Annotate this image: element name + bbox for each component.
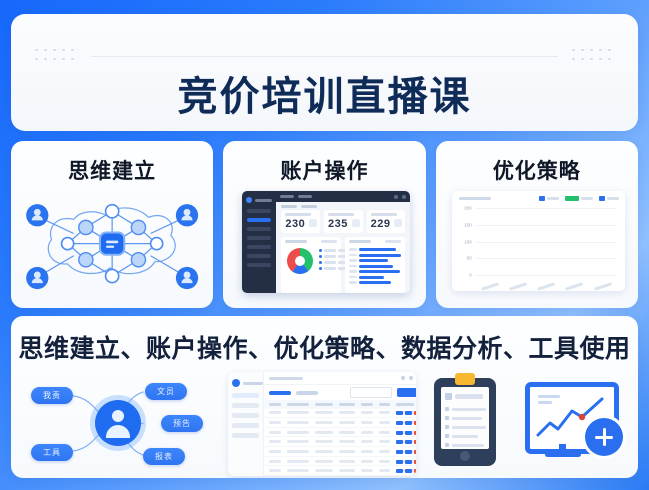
clipboard-tablet-icon <box>416 374 520 474</box>
dashboard-bell-icon <box>394 195 398 199</box>
dashboard-nav-item <box>247 209 271 213</box>
stat-card: 229 <box>367 210 406 233</box>
page-title: 竞价培训直播课 <box>11 64 638 122</box>
table-help-icon <box>401 376 405 380</box>
card-optimization-strategy[interactable]: 优化策略 200 150 100 50 0 <box>436 141 638 308</box>
poster-stage: 竞价培训直播课 思维建立 <box>0 0 649 490</box>
feature-cards: 思维建立 <box>11 141 638 308</box>
dashboard-main: 230 235 229 <box>276 191 410 293</box>
table-nav-item <box>232 413 259 418</box>
table-nav-item <box>232 403 259 408</box>
header-decoration <box>11 47 638 65</box>
table-primary-button[interactable] <box>397 388 416 397</box>
dashboard-nav-item-active <box>247 218 271 222</box>
legend-item <box>565 196 593 201</box>
legend-item <box>599 196 619 201</box>
table-tab-active[interactable] <box>269 391 291 395</box>
table-header-row <box>264 400 416 409</box>
table-row[interactable] <box>264 418 416 428</box>
chart-x-labels <box>476 285 617 288</box>
donut-chart <box>287 248 313 274</box>
dashboard-nav-item <box>247 263 271 267</box>
card-thinking[interactable]: 思维建立 <box>11 141 213 308</box>
y-tick: 100 <box>464 239 472 244</box>
card-title-optimization: 优化策略 <box>436 155 638 185</box>
table-row[interactable] <box>264 409 416 419</box>
stat-card: 235 <box>324 210 363 233</box>
donut-panel <box>281 237 341 293</box>
card-account-operation[interactable]: 账户操作 <box>223 141 425 308</box>
table-nav-item <box>232 423 259 428</box>
dashboard-topbar <box>276 191 410 202</box>
y-tick: 50 <box>467 256 472 261</box>
header-card: 竞价培训直播课 <box>11 14 638 131</box>
dashboard-nav-item <box>247 254 271 258</box>
y-tick: 0 <box>469 273 472 278</box>
mindmap-illustration: 我责 文员 预告 工具 报表 <box>11 374 224 474</box>
legend-item <box>539 196 559 201</box>
dashboard-nav-item <box>247 245 271 249</box>
mindmap-node-3[interactable]: 工具 <box>31 444 73 461</box>
card-title-account: 账户操作 <box>223 155 425 185</box>
table-main <box>264 372 416 476</box>
chart-legend <box>539 196 619 201</box>
bar-list-panel <box>345 237 405 293</box>
dashboard-breadcrumb <box>276 202 410 210</box>
table-toolbar <box>264 385 416 399</box>
mindmap-node-2[interactable]: 预告 <box>161 415 203 432</box>
table-nav-item <box>232 433 259 438</box>
summary-title: 思维建立、账户操作、优化策略、数据分析、工具使用 <box>11 329 638 365</box>
table-logo-icon <box>232 379 263 387</box>
table-search-input[interactable] <box>350 387 392 398</box>
table-topbar <box>264 372 416 385</box>
table-tab[interactable] <box>296 391 318 395</box>
table-row[interactable] <box>264 457 416 467</box>
dashboard-logo-icon <box>246 197 276 203</box>
header-divider <box>91 56 558 57</box>
mindmap-node-1[interactable]: 文员 <box>145 383 187 400</box>
chart-bars <box>476 208 617 275</box>
table-sidebar <box>228 372 264 476</box>
mindmap-node-0[interactable]: 我责 <box>31 387 73 404</box>
dashboard-stats: 230 235 229 <box>276 210 410 233</box>
monitor-chart-add-icon <box>519 374 638 474</box>
summary-panel: 思维建立、账户操作、优化策略、数据分析、工具使用 我责 文员 <box>11 316 638 478</box>
y-tick: 200 <box>464 206 472 211</box>
dashboard-sidebar <box>242 191 276 293</box>
bar-chart: 200 150 100 50 0 <box>452 191 625 291</box>
card-title-thinking: 思维建立 <box>11 155 213 185</box>
chart-plot: 200 150 100 50 0 <box>476 208 617 275</box>
table-row[interactable] <box>264 428 416 438</box>
table-row[interactable] <box>264 466 416 476</box>
dashboard-screenshot: 230 235 229 <box>223 189 425 300</box>
chart-title <box>459 197 491 200</box>
summary-illustrations: 我责 文员 预告 工具 报表 <box>11 374 638 474</box>
y-tick: 150 <box>464 222 472 227</box>
table-row[interactable] <box>264 447 416 457</box>
stat-card: 230 <box>281 210 320 233</box>
table-mock <box>228 372 416 476</box>
dashboard-gear-icon <box>402 195 406 199</box>
table-row[interactable] <box>264 437 416 447</box>
bar-chart-art: 200 150 100 50 0 <box>436 189 638 300</box>
dashboard-nav-item <box>247 227 271 231</box>
mindmap-node-4[interactable]: 报表 <box>143 448 185 465</box>
dashboard-mock: 230 235 229 <box>242 191 410 293</box>
network-diagram-icon <box>11 189 213 300</box>
bar-list <box>349 248 401 287</box>
mindmap-center-avatar <box>95 400 141 446</box>
dot-grid-right-icon <box>572 49 614 64</box>
table-screenshot <box>228 372 416 476</box>
dashboard-panels <box>276 233 410 293</box>
table-nav-item-active <box>232 393 259 398</box>
dot-grid-left-icon <box>35 49 77 64</box>
table-gear-icon <box>409 376 413 380</box>
dashboard-nav-item <box>247 236 271 240</box>
